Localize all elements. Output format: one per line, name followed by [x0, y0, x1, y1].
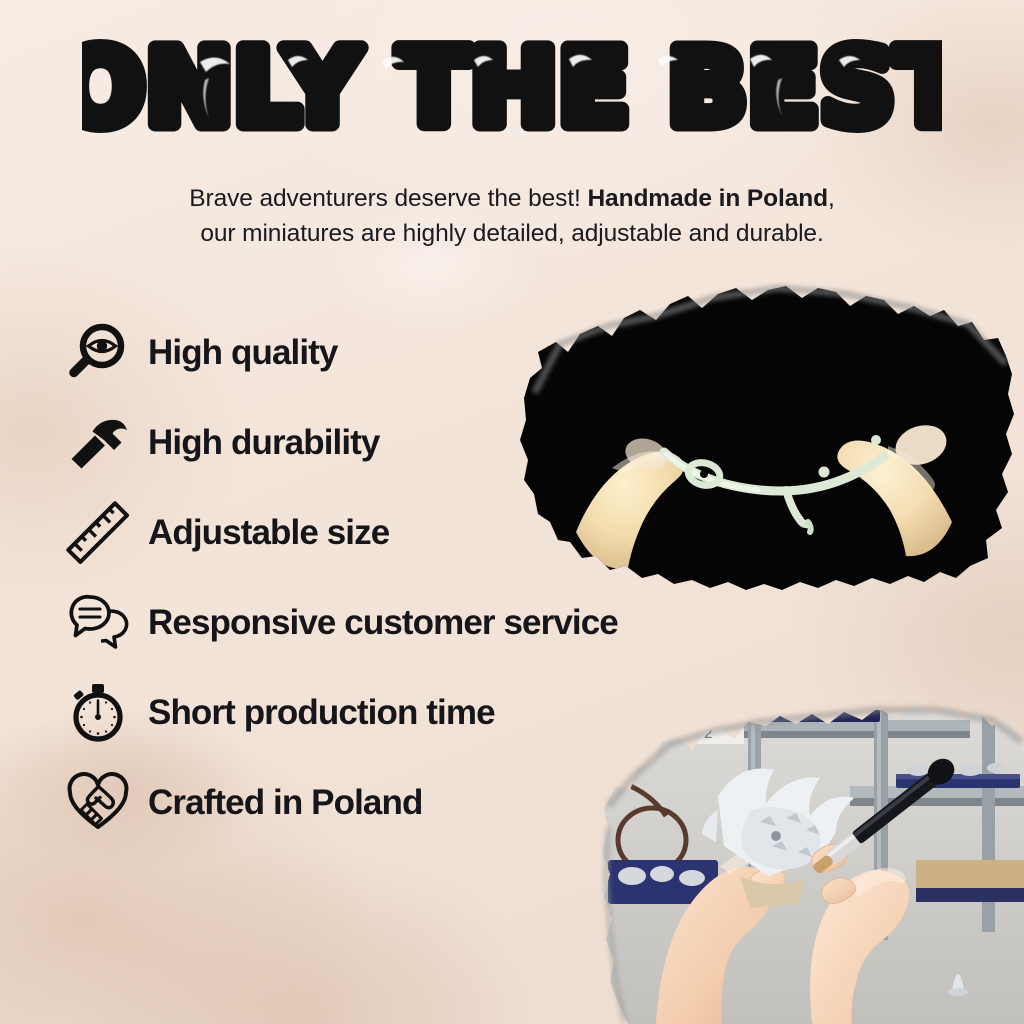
stopwatch-icon: [62, 677, 134, 749]
subtitle-line-2: our miniatures are highly detailed, adju…: [82, 217, 942, 252]
feature-label: Adjustable size: [148, 513, 389, 553]
subtitle-comma: ,: [828, 185, 835, 212]
feature-label: Short production time: [148, 693, 495, 733]
magnifier-eye-icon: [62, 317, 134, 389]
flexing-miniature-photo: [516, 282, 1016, 602]
hammer-icon: [62, 407, 134, 479]
feature-label: Crafted in Poland: [148, 783, 422, 823]
feature-label: High durability: [148, 423, 380, 463]
workshop-painting-photo: 2: [600, 690, 1024, 1024]
subtitle-strong: Handmade in Poland: [587, 185, 828, 212]
feature-label: Responsive customer service: [148, 603, 618, 643]
subtitle-lead: Brave adventurers deserve the best!: [189, 185, 587, 212]
ruler-icon: [62, 497, 134, 569]
page-title: ONLY THE BEST ONLY THE BEST: [0, 34, 1024, 146]
handshake-heart-icon: [62, 767, 134, 839]
feature-label: High quality: [148, 333, 337, 373]
speech-bubbles-icon: [62, 587, 134, 659]
subtitle-line-1: Brave adventurers deserve the best! Hand…: [82, 182, 942, 217]
svg-text:ONLY THE BEST: ONLY THE BEST: [82, 34, 942, 146]
subtitle: Brave adventurers deserve the best! Hand…: [82, 182, 942, 252]
